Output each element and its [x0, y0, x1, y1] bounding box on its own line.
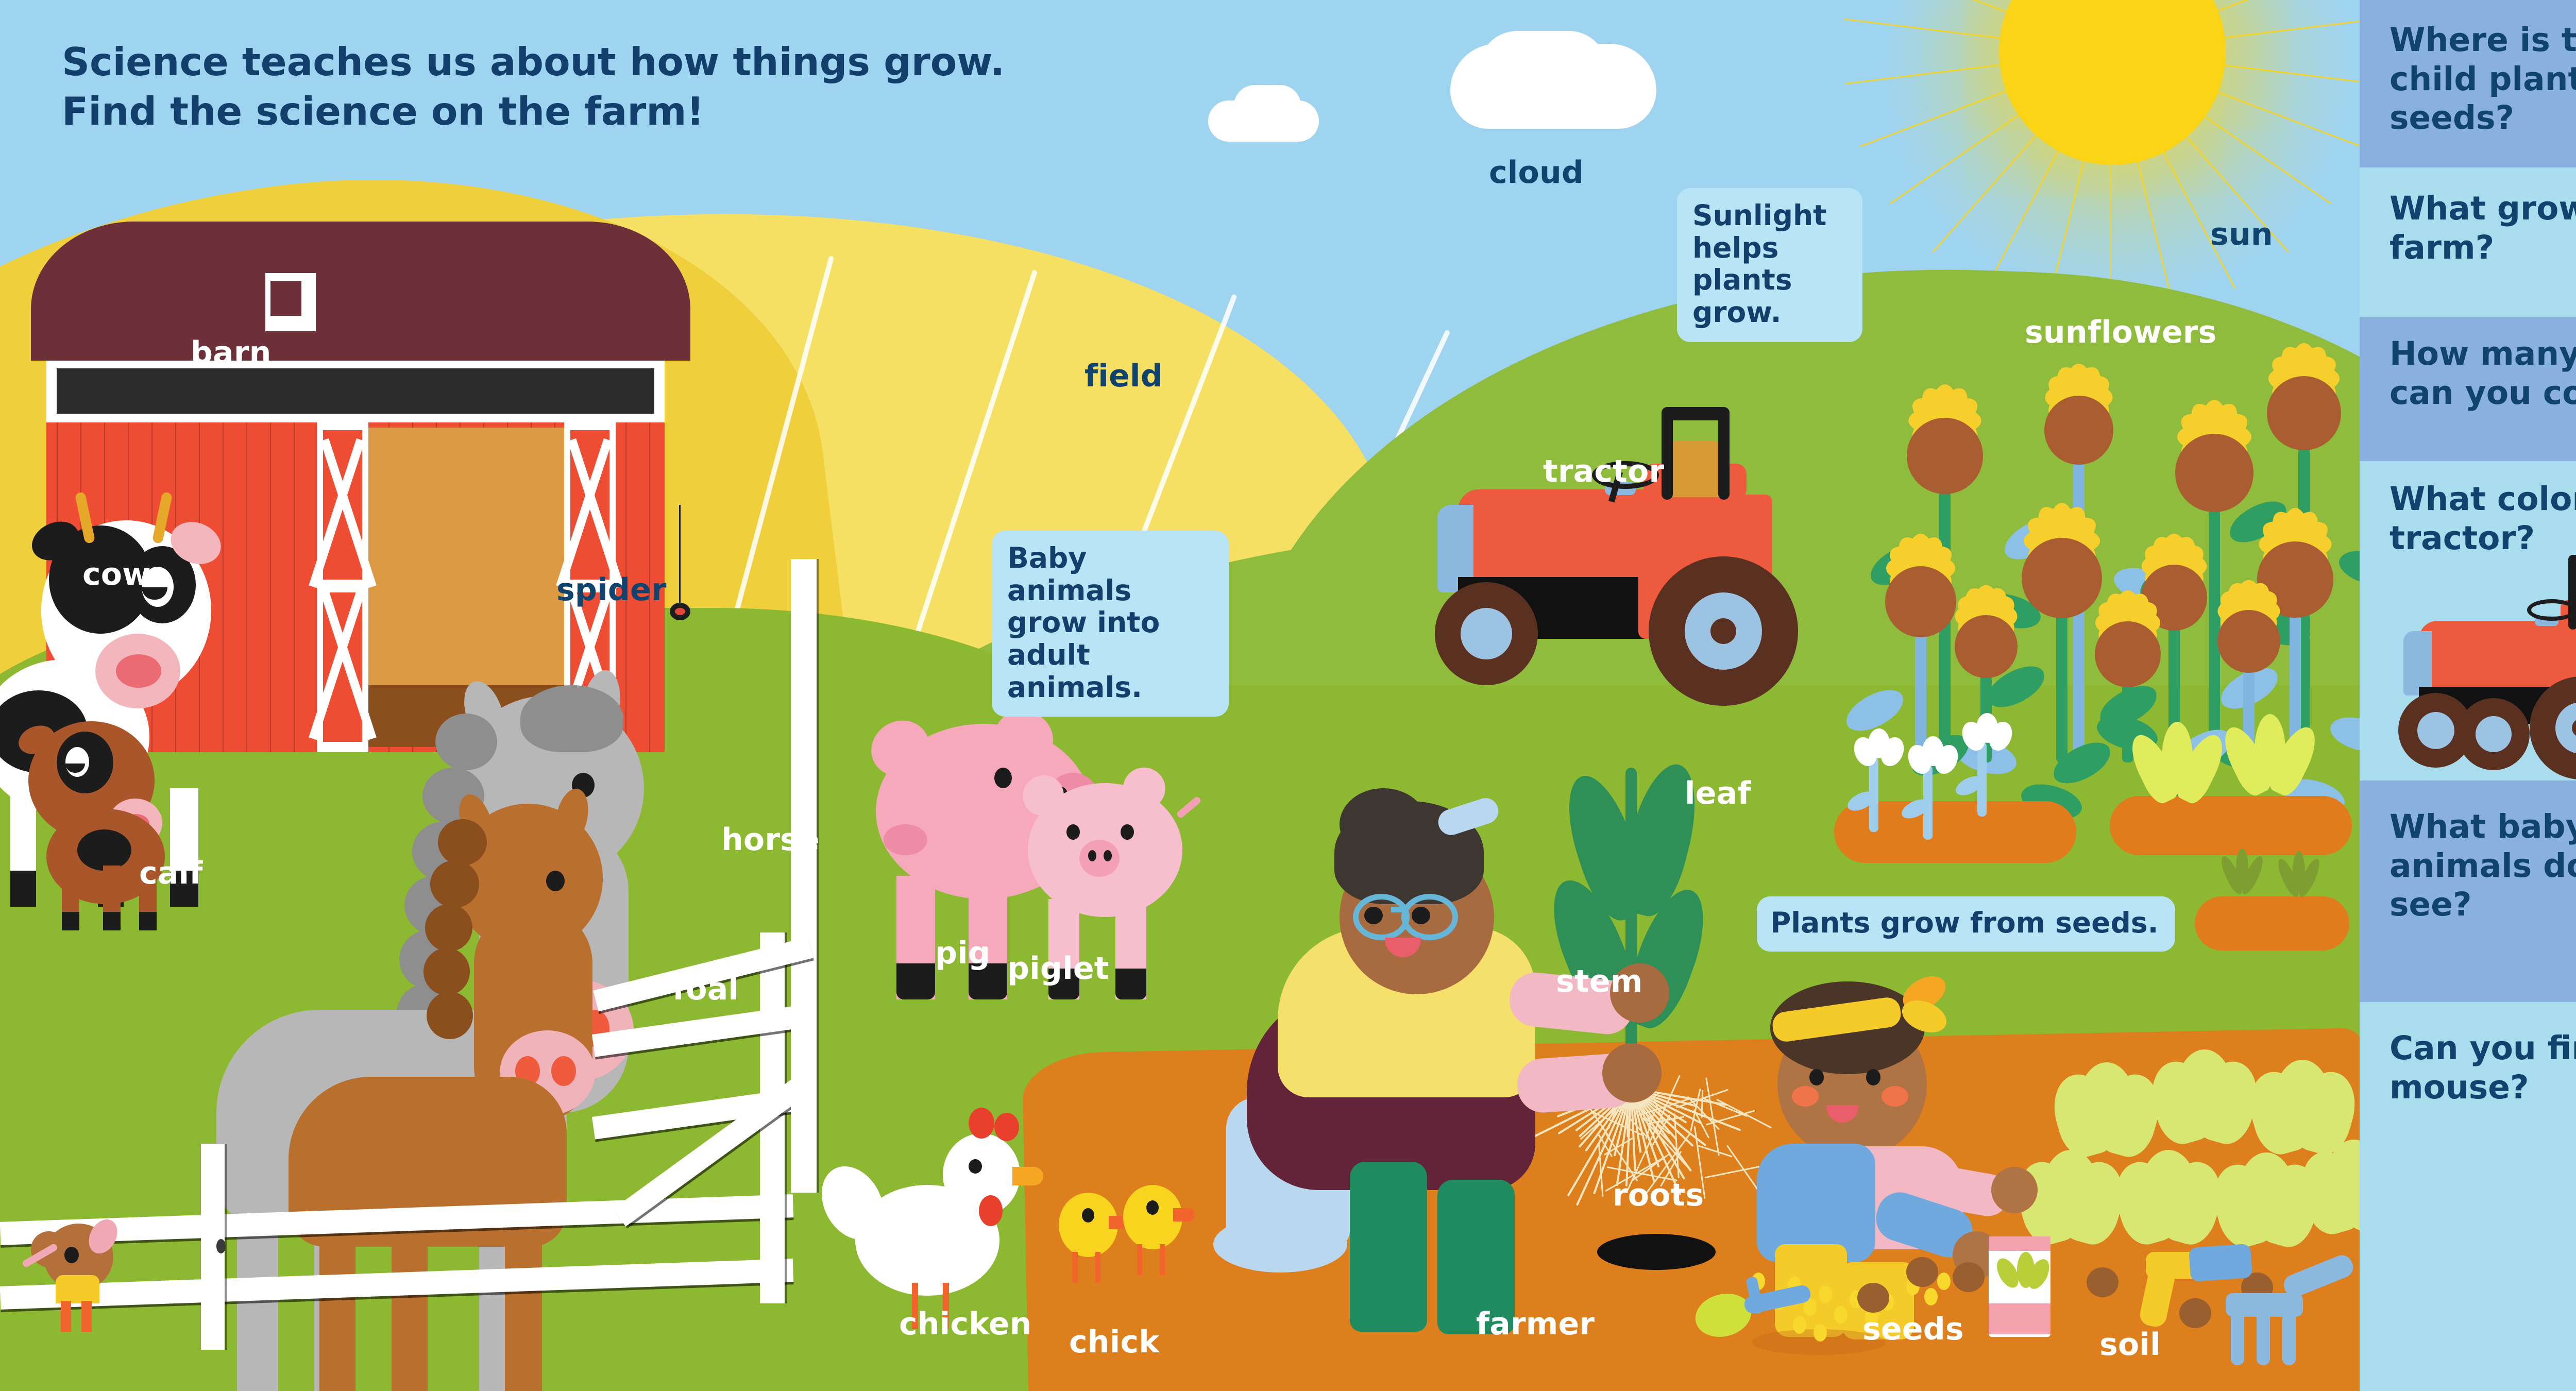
callout-seeds: Plants grow from seeds. — [1757, 896, 2175, 952]
title-line-2: Find the science on the farm! — [62, 87, 1005, 136]
sunflower-center — [2217, 610, 2280, 673]
label-barn: barn — [191, 337, 272, 368]
sunflower-center — [2267, 376, 2341, 450]
page-title: Science teaches us about how things grow… — [62, 37, 1005, 136]
label-chicken: chicken — [899, 1309, 1032, 1339]
label-spider: spider — [556, 574, 667, 605]
sidebar-question-text: Can you find the mouse? — [2389, 1029, 2576, 1107]
foal-eye — [546, 871, 565, 891]
title-line-1: Science teaches us about how things grow… — [62, 37, 1005, 87]
sidebar-question-text: What color is the tractor? — [2389, 480, 2576, 557]
sidebar-question-text: What baby animals do you see? — [2389, 807, 2576, 924]
seed-icon — [2087, 1267, 2119, 1297]
sidebar-panel-tractor-color[interactable]: What color is the tractor? — [2360, 461, 2576, 781]
label-farmer: farmer — [1476, 1309, 1595, 1339]
cloud-icon — [1479, 31, 1607, 108]
seed-icon — [1906, 1257, 1938, 1287]
sunflower-center — [2175, 434, 2253, 512]
label-calf: calf — [139, 858, 203, 889]
seed-icon — [1814, 1324, 1827, 1342]
cloud-small-icon — [1234, 85, 1301, 126]
spider-thread — [679, 505, 681, 608]
seed-icon — [1793, 1316, 1806, 1334]
tractor-seat — [1669, 440, 1721, 497]
label-cow: cow — [82, 559, 151, 590]
label-leaf: leaf — [1685, 778, 1751, 809]
chicken-beak — [1012, 1167, 1043, 1185]
sunflower-center — [1955, 615, 2018, 678]
sunflower-center — [1907, 418, 1982, 494]
sidebar-question-text: How many chicks can you count? — [2389, 334, 2576, 412]
sidebar-panel-planting-seeds[interactable]: Where is the child planting seeds? — [2360, 0, 2576, 167]
seed-icon — [1953, 1262, 1985, 1292]
label-pig: pig — [935, 938, 990, 969]
sunflower-center — [2022, 538, 2102, 618]
child-hand — [1991, 1167, 2038, 1213]
label-sun: sun — [2210, 219, 2273, 250]
label-chick: chick — [1069, 1327, 1159, 1358]
farm-science-spread: barn cow calf spider horse foal pig pigl… — [0, 0, 2576, 1391]
sunflower-center — [2044, 396, 2113, 465]
label-seeds: seeds — [1862, 1314, 1964, 1345]
sidebar-question-text: Where is the child planting seeds? — [2389, 21, 2576, 138]
chicken-comb — [969, 1108, 994, 1139]
farmer-boot — [1350, 1162, 1427, 1332]
seed-icon — [1819, 1285, 1832, 1303]
callout-baby-animals: Baby animals grow into adult animals. — [992, 531, 1229, 717]
label-sunflowers: sunflowers — [2025, 317, 2216, 348]
sidebar-panel-baby-animals[interactable]: What baby animals do you see? — [2360, 781, 2576, 1002]
label-foal: foal — [672, 974, 739, 1005]
label-piglet: piglet — [1007, 953, 1109, 984]
label-horse: horse — [721, 824, 820, 855]
sunflower-center — [1885, 566, 1956, 637]
label-cloud: cloud — [1489, 157, 1584, 188]
sidebar-panel-what-grows[interactable]: What grows on a farm? — [2360, 167, 2576, 317]
label-stem: stem — [1556, 966, 1642, 997]
seed-icon — [1857, 1283, 1889, 1313]
sidebar-panel-find-mouse[interactable]: Can you find the mouse? — [2360, 1002, 2576, 1391]
seed-icon — [1937, 1273, 1951, 1290]
plant-stem — [1625, 768, 1637, 1087]
planting-hole — [1597, 1234, 1716, 1270]
pig-eye — [994, 768, 1012, 788]
seed-icon — [1924, 1288, 1938, 1305]
sidebar-question-text: What grows on a farm? — [2389, 189, 2576, 267]
seed-icon — [2179, 1298, 2211, 1328]
piglet-snout — [1079, 840, 1120, 877]
question-sidebar: Where is the child planting seeds? What … — [2360, 0, 2576, 1391]
callout-sunlight: Sunlight helps plants grow. — [1677, 188, 1862, 342]
label-tractor: tractor — [1543, 456, 1664, 487]
sidebar-panel-count-chicks[interactable]: How many chicks can you count? — [2360, 317, 2576, 461]
label-roots: roots — [1613, 1180, 1704, 1211]
seed-icon — [1834, 1306, 1848, 1324]
sunflower-center — [2095, 621, 2161, 687]
sunflower-stem — [2209, 473, 2220, 762]
label-field: field — [1084, 361, 1163, 392]
farm-scene: barn cow calf spider horse foal pig pigl… — [0, 0, 2360, 1391]
label-soil: soil — [2099, 1329, 2161, 1360]
